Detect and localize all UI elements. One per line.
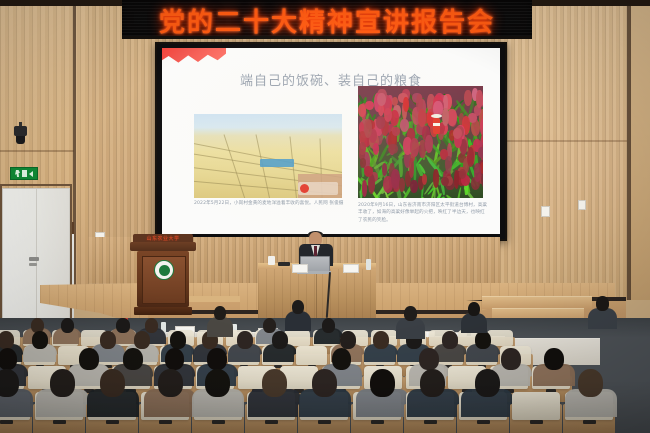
seat-clip	[318, 420, 330, 424]
seat-clip	[265, 420, 277, 424]
seat-clip	[477, 420, 489, 424]
audience-person-head	[158, 369, 183, 397]
audience-person-head	[340, 331, 356, 349]
audience-person-head	[475, 369, 500, 397]
camera-lens-icon	[16, 136, 25, 144]
lecture-hall-photo: 党的二十大精神宣讲报告会 端自己的饭碗、装自己的粮食	[0, 0, 650, 433]
sorghum-head	[410, 138, 420, 157]
wall-switch-icon[interactable]	[578, 200, 586, 210]
audience-person-head	[578, 369, 603, 397]
sorghum-head	[403, 97, 409, 112]
seat-clip	[583, 420, 595, 424]
audience-person-head	[116, 318, 130, 333]
audience-person-head	[404, 306, 417, 321]
audience-person-head	[205, 369, 230, 397]
water-bottle	[366, 259, 371, 270]
audience-person-head	[370, 369, 395, 397]
name-card	[343, 264, 359, 273]
wall-switch-icon[interactable]	[541, 206, 550, 217]
slide-caption-sorghum: 2020年9月16日，山东省济南市济阳区太平街道台博村，高粱丰收了，如海的高粱好…	[358, 202, 488, 224]
door-handle[interactable]	[29, 257, 39, 261]
seat-clip	[53, 420, 65, 424]
audience-person-head	[292, 300, 304, 314]
microphone-base	[278, 262, 290, 266]
wall-band-left	[0, 150, 74, 152]
auditorium-seat[interactable]	[512, 392, 560, 420]
audience-person-head	[420, 369, 445, 397]
security-camera-icon	[14, 126, 27, 136]
exit-door-icon	[22, 170, 27, 177]
sorghum-head	[362, 180, 367, 196]
pond	[260, 159, 294, 167]
seat-clip	[212, 420, 224, 424]
audience-person-head	[61, 318, 75, 333]
sorghum-head	[382, 163, 387, 175]
audience-person-head	[272, 331, 288, 349]
wall-far-right	[631, 0, 650, 300]
sorghum-head	[384, 108, 392, 123]
sorghum-head	[425, 135, 433, 153]
flag-shape	[162, 48, 226, 68]
arrow-right-icon	[29, 171, 33, 177]
audience-person-head	[312, 369, 337, 397]
sorghum-head	[410, 180, 417, 193]
podium: 山东农业大学	[130, 234, 196, 318]
name-card	[292, 264, 308, 273]
cup	[268, 256, 275, 265]
audience-person-head	[100, 369, 125, 397]
led-banner: 党的二十大精神宣讲报告会	[122, 0, 532, 39]
wall-band-right	[500, 140, 627, 142]
sorghum-head	[459, 169, 466, 179]
sorghum-head	[474, 163, 482, 182]
audience-person-head	[475, 331, 491, 349]
audience-person-head	[596, 296, 609, 311]
led-banner-text: 党的二十大精神宣讲报告会	[122, 2, 532, 39]
audience-person-head	[332, 348, 352, 370]
table-seam	[316, 269, 317, 319]
audience-person-head	[373, 331, 389, 349]
slide-caption-farmland: 2022年5月22日，小岗村金黄的麦地洋溢着丰收的喜悦。人民网 张俊摄	[194, 200, 344, 207]
podium-top	[130, 242, 196, 251]
sorghum-head	[399, 178, 405, 192]
running-man-icon	[15, 170, 20, 177]
audience-person-head	[322, 318, 336, 333]
seat-clip	[530, 420, 542, 424]
seat-clip	[424, 420, 436, 424]
seat-clip	[106, 420, 118, 424]
table-grain	[258, 269, 376, 319]
farmer-stripe	[433, 123, 440, 126]
audience-person-head	[165, 348, 185, 370]
audience-person-head	[79, 348, 99, 370]
audience-person-head	[207, 348, 227, 370]
sorghum-head	[441, 177, 449, 186]
presentation-slide: 端自己的饭碗、装自己的粮食	[162, 48, 500, 234]
audience-person-head	[214, 306, 226, 320]
audience-person-head	[50, 369, 75, 397]
audience-person-head	[32, 331, 48, 349]
audience-person-head	[100, 331, 116, 349]
sorghum-head	[464, 90, 472, 106]
exit-sign	[10, 167, 38, 180]
audience-person-head	[134, 331, 150, 349]
red-flag-decoration-icon	[162, 48, 226, 70]
sorghum-head	[364, 166, 373, 177]
sorghum-head	[481, 172, 483, 187]
audience-person-head	[0, 348, 17, 370]
seat-clip	[0, 420, 12, 424]
audience-person-head	[0, 369, 19, 397]
audience-person-head	[263, 318, 277, 333]
slide-photo-farmland	[194, 114, 342, 198]
emblem-inner	[159, 265, 170, 276]
audience-person-head	[145, 318, 159, 333]
watermark-logo-icon	[300, 184, 309, 193]
sorghum-head	[388, 144, 397, 153]
sorghum-head	[422, 174, 427, 185]
sorghum-head	[478, 147, 483, 159]
farmer-body	[433, 118, 440, 134]
audience-person-head	[262, 369, 287, 397]
sorghum-head	[467, 147, 474, 167]
audience-person-head	[170, 331, 186, 349]
door-split	[36, 189, 37, 319]
farmer-figure	[432, 114, 441, 134]
sorghum-canopy	[358, 86, 483, 198]
slide-photo-sorghum	[358, 86, 483, 198]
audience-person-head	[0, 331, 14, 349]
audience-person-head	[442, 331, 458, 349]
projection-screen: 端自己的饭碗、装自己的粮食	[155, 42, 507, 241]
door-handle-lower[interactable]	[29, 263, 37, 266]
sorghum-head	[364, 119, 372, 138]
podium-base	[134, 307, 192, 315]
seat-clip	[159, 420, 171, 424]
seat-clip	[371, 420, 383, 424]
audience-person-head	[237, 331, 253, 349]
podium-name-plate: 山东农业大学	[133, 235, 193, 242]
audience-person-head	[468, 302, 480, 316]
auditorium-seat[interactable]	[296, 346, 327, 365]
university-emblem-icon	[154, 260, 174, 280]
audience-person-head	[419, 348, 439, 370]
audience-person-head	[501, 348, 521, 370]
audience-person-head	[544, 348, 564, 370]
audience-person-head	[123, 348, 143, 370]
